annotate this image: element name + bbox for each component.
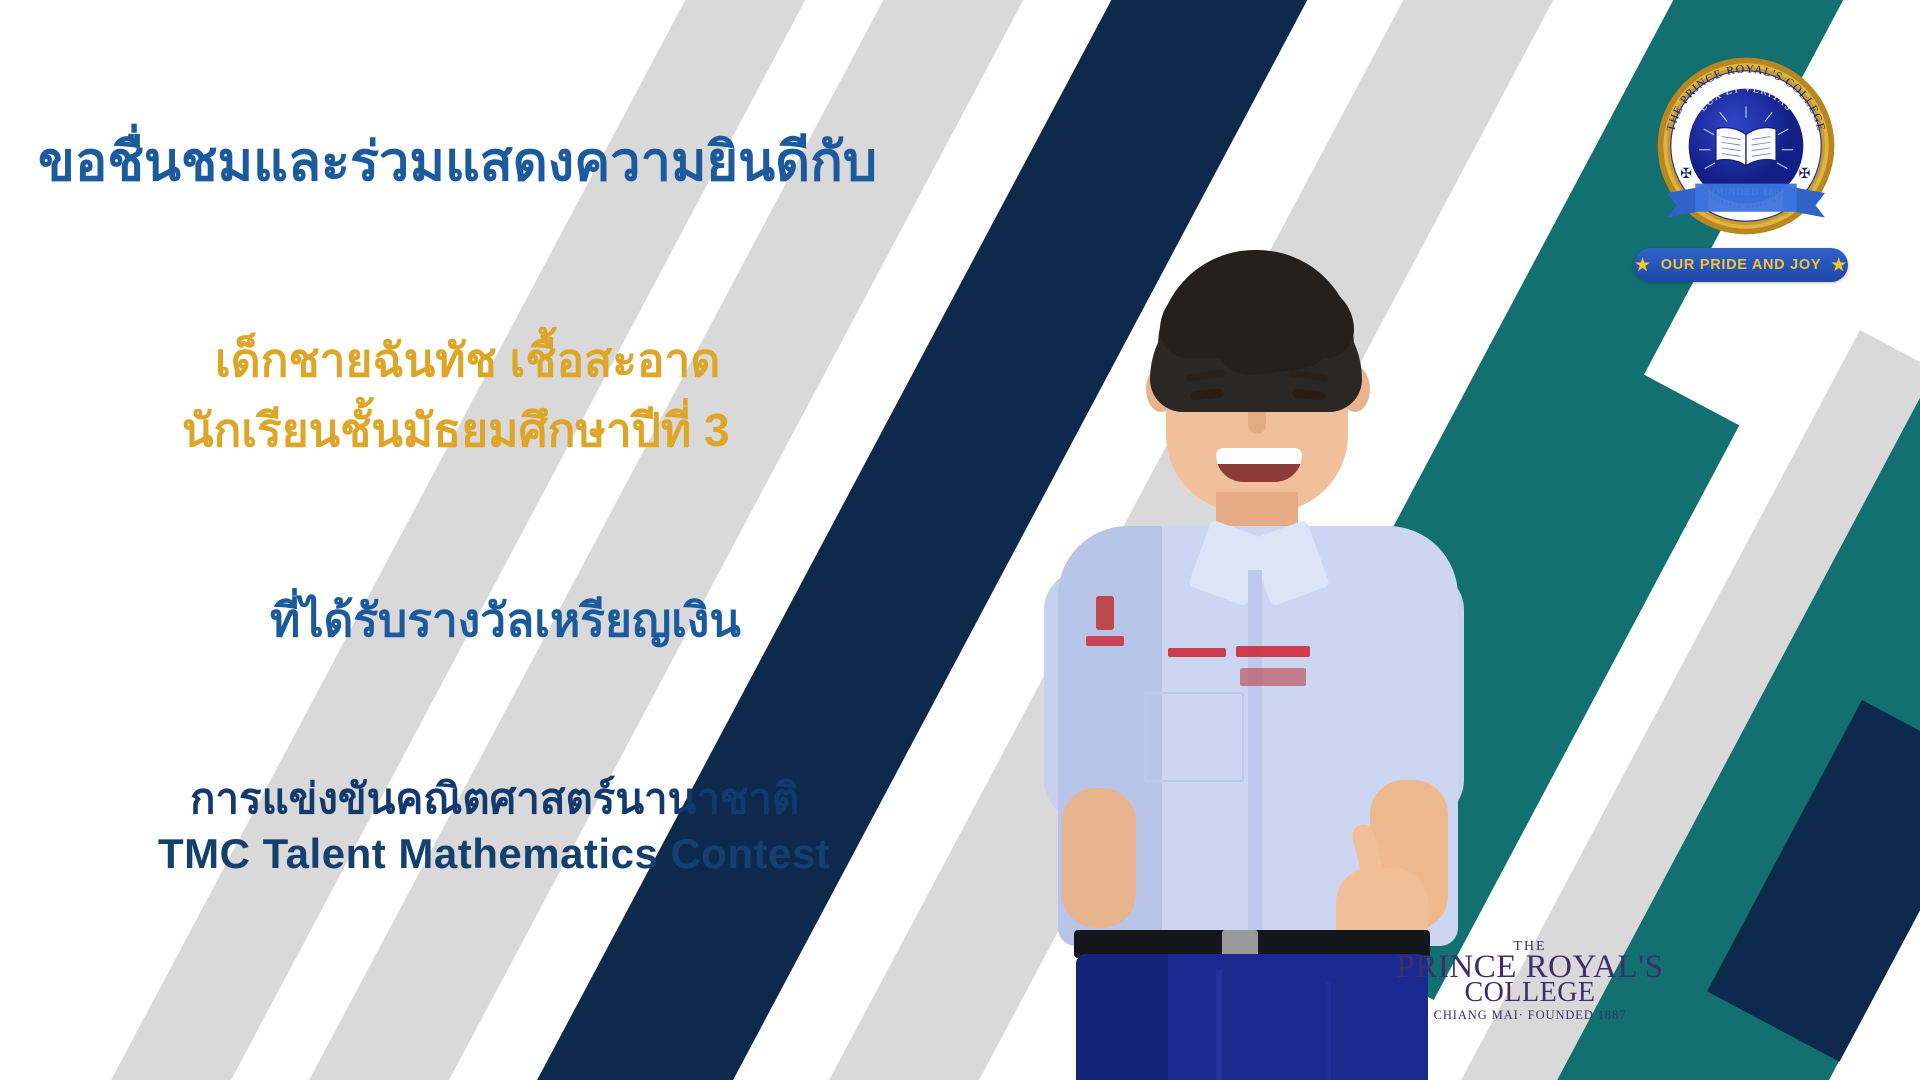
pride-banner-label: OUR PRIDE AND JOY xyxy=(1661,257,1821,273)
wordmark-line-4: CHIANG MAI· FOUNDED 1887 xyxy=(1380,1009,1680,1022)
contest-name-english: TMC Talent Mathematics Contest xyxy=(158,830,830,878)
pride-and-joy-banner: ★ OUR PRIDE AND JOY ★ xyxy=(1634,248,1848,282)
cross-left-icon: ✠ xyxy=(1680,166,1692,182)
contest-name-thai: การแข่งขันคณิตศาสตร์นานาชาติ xyxy=(190,766,799,832)
crest-seal: THE PRINCE ROYAL'S COLLEGE CHIANG MAI 19… xyxy=(1652,52,1840,240)
headline-congratulation: ขอชื่นชมและร่วมแสดงความยินดีกับ xyxy=(38,118,877,204)
slide-canvas: THE PRINCE ROYAL'S COLLEGE CHIANG MAI 19… xyxy=(0,0,1920,1080)
star-icon-left: ★ xyxy=(1634,256,1652,275)
star-icon-right: ★ xyxy=(1830,256,1848,275)
college-wordmark: THE PRINCE ROYAL'S COLLEGE CHIANG MAI· F… xyxy=(1380,940,1680,1022)
student-grade: นักเรียนชั้นมัธยมศึกษาปีที่ 3 xyxy=(182,394,730,467)
text-content: ขอชื่นชมและร่วมแสดงความยินดีกับ เด็กชายฉ… xyxy=(0,0,1080,1080)
student-name: เด็กชายฉันทัช เชื้อสะอาด xyxy=(215,324,720,397)
school-crest: THE PRINCE ROYAL'S COLLEGE CHIANG MAI 19… xyxy=(1652,52,1840,240)
award-text: ที่ได้รับรางวัลเหรียญเงิน xyxy=(270,584,741,657)
cross-right-icon: ✠ xyxy=(1799,166,1811,182)
